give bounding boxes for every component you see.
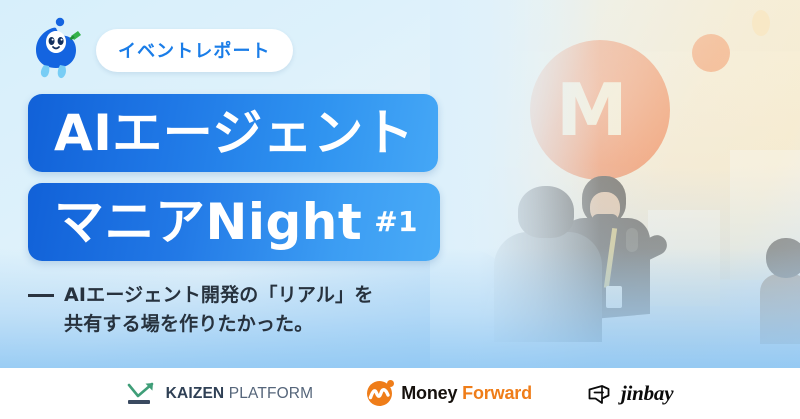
subtitle-line-2: 共有する場を作りたかった。 — [64, 310, 373, 339]
title-line-1: AIエージェント — [28, 94, 438, 172]
kaizen-platform-wordmark: KAIZEN PLATFORM — [166, 385, 314, 403]
logo-jinbay: jinbay — [586, 381, 673, 406]
forward-text: Forward — [457, 383, 532, 403]
jinbay-icon — [586, 382, 612, 406]
subtitle-text: AIエージェント開発の「リアル」を 共有する場を作りたかった。 — [64, 281, 373, 339]
subtitle-dash-icon — [28, 294, 54, 297]
kaizen-bold-text: KAIZEN — [166, 385, 225, 402]
kaizen-light-text: PLATFORM — [224, 385, 313, 402]
money-forward-icon — [367, 381, 392, 406]
money-text: Money — [401, 383, 457, 403]
jinbay-wordmark: jinbay — [621, 381, 673, 406]
title-line-2-text: マニアNight — [54, 195, 362, 249]
badge-row: イベントレポート — [22, 16, 293, 84]
subtitle: AIエージェント開発の「リアル」を 共有する場を作りたかった。 — [28, 281, 373, 339]
money-forward-wordmark: Money Forward — [401, 383, 532, 404]
hero-content: イベントレポート AIエージェント マニアNight #1 AIエージェント開発… — [0, 0, 800, 368]
event-report-badge: イベントレポート — [96, 29, 293, 72]
mascot-character-icon — [22, 16, 90, 84]
event-report-banner: M — [0, 0, 800, 419]
money-forward-dot-icon — [387, 380, 394, 387]
event-report-badge-label: イベントレポート — [118, 37, 271, 63]
logo-kaizen-platform: KAIZEN PLATFORM — [127, 381, 314, 407]
logo-money-forward: Money Forward — [367, 381, 532, 406]
title-edition-number: #1 — [374, 207, 418, 237]
title-line-2: マニアNight #1 — [28, 183, 440, 261]
kaizen-arrow-icon — [127, 381, 157, 407]
title-line-1-text: AIエージェント — [54, 106, 414, 160]
sponsor-logo-bar: KAIZEN PLATFORM Money Forward jinbay — [0, 368, 800, 419]
subtitle-line-1: AIエージェント開発の「リアル」を — [64, 281, 373, 310]
